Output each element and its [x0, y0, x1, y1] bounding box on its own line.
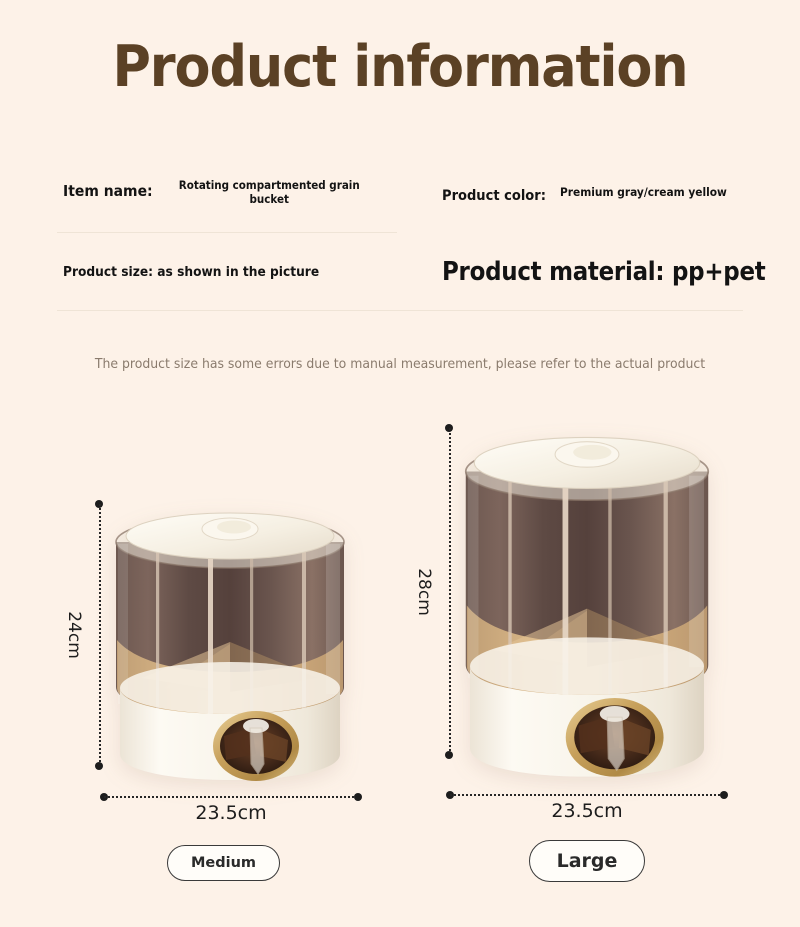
- spec-cell-item-name: Item name: Rotating compartmented grain …: [57, 182, 442, 210]
- grain-bucket-large: [453, 418, 721, 778]
- spec-row: Product size: as shown in the picture Pr…: [57, 233, 743, 311]
- measure-endpoint-dot: [445, 751, 453, 759]
- height-label-large: 28cm: [414, 568, 434, 616]
- dotted-measure-line: [104, 796, 358, 798]
- spec-label-product-material: Product material: pp+pet: [442, 257, 765, 287]
- dotted-measure-line: [450, 794, 724, 796]
- height-label-medium: 24cm: [64, 611, 84, 659]
- dotted-measure-line: [99, 504, 101, 766]
- spec-label-product-size: Product size: as shown in the picture: [63, 264, 319, 280]
- spec-cell-product-color: Product color: Premium gray/cream yellow: [442, 188, 743, 204]
- width-label-large: 23.5cm: [446, 800, 728, 822]
- page-title: Product information: [32, 38, 768, 98]
- size-badge-large[interactable]: Large: [529, 840, 645, 882]
- grain-bucket-medium: [104, 492, 356, 782]
- spec-label-item-name: Item name:: [63, 182, 153, 200]
- size-badge-medium[interactable]: Medium: [167, 845, 280, 881]
- spec-cell-product-material: Product material: pp+pet: [442, 257, 743, 287]
- row-divider: [57, 310, 743, 311]
- measurement-disclaimer: The product size has some errors due to …: [28, 357, 772, 372]
- measure-endpoint-dot: [720, 791, 728, 799]
- spec-cell-product-size: Product size: as shown in the picture: [57, 264, 442, 280]
- measure-endpoint-dot: [354, 793, 362, 801]
- width-label-medium: 23.5cm: [100, 802, 362, 824]
- specification-table: Item name: Rotating compartmented grain …: [57, 158, 743, 311]
- spec-value-item-name: Rotating compartmented grain bucket: [177, 179, 362, 207]
- measure-endpoint-dot: [95, 762, 103, 770]
- spec-value-product-color: Premium gray/cream yellow: [560, 185, 727, 199]
- spec-label-product-color: Product color:: [442, 188, 546, 204]
- spec-row: Item name: Rotating compartmented grain …: [57, 158, 743, 233]
- dotted-measure-line: [449, 428, 451, 755]
